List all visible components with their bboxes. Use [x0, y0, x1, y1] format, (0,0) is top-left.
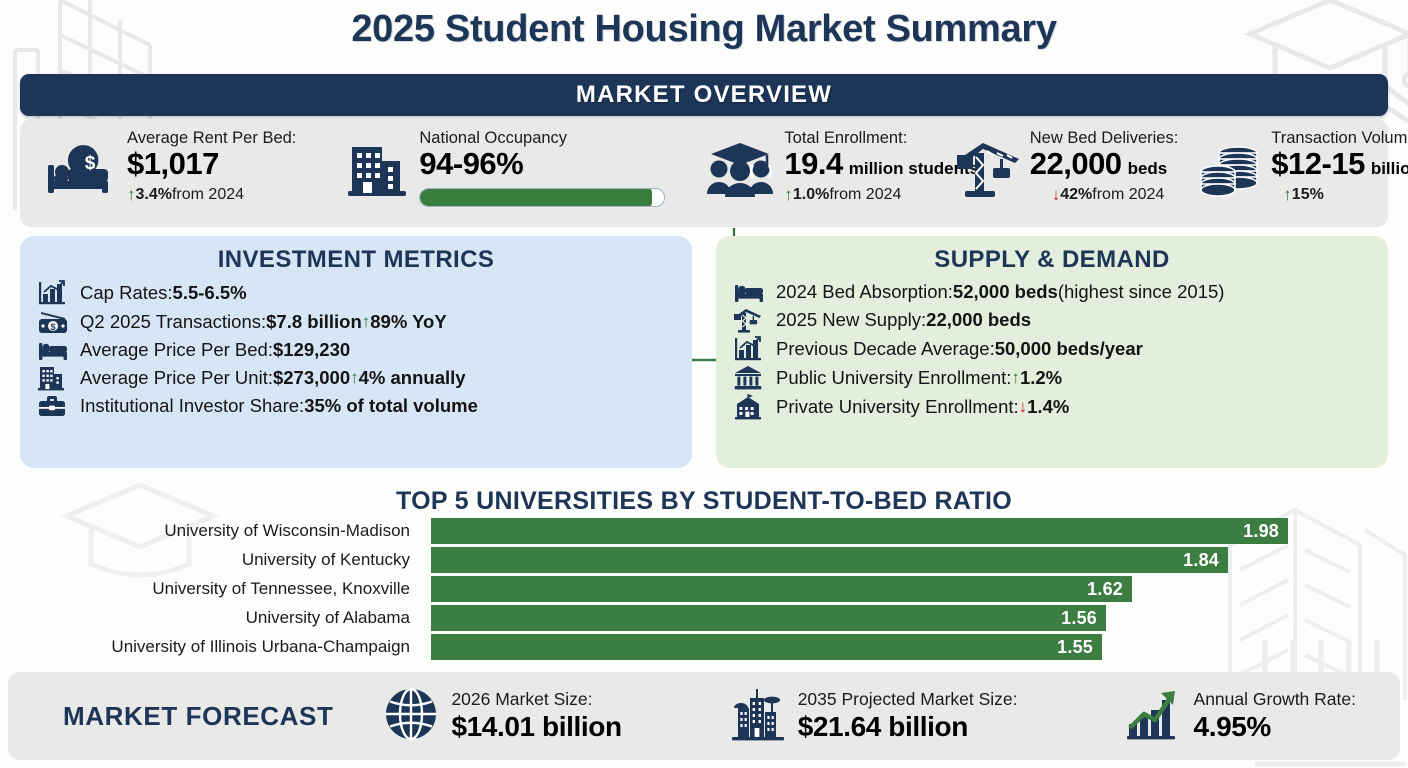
arrow-up-icon: ↑: [127, 185, 136, 205]
stat-value: 94-96%: [419, 147, 523, 182]
apartment-icon: [38, 365, 72, 391]
item-text-pre: Public University Enrollment:: [776, 366, 1011, 389]
stat-unit: billion: [1371, 160, 1408, 177]
forecast-label: 2035 Projected Market Size:: [798, 689, 1018, 710]
forecast-value: $14.01 billion: [451, 710, 621, 744]
cash-money-icon: $: [38, 309, 72, 335]
item-text-bold2: 89% YoY: [370, 310, 446, 333]
bar-chart-up-icon: [38, 280, 72, 306]
item-text-bold: 52,000 beds: [953, 280, 1058, 303]
list-item: 2025 New Supply: 22,000 beds: [734, 307, 1370, 333]
city-skyline-icon: [730, 686, 786, 747]
bar-value-label: 1.56: [1061, 608, 1097, 629]
forecast-item-2035-projected-market-size: 2035 Projected Market Size: $21.64 billi…: [730, 686, 1018, 747]
stat-label: Transaction Volume:: [1271, 129, 1408, 147]
bar-category-label: University of Tennessee, Knoxville: [0, 576, 420, 602]
graduates-group-icon: [707, 141, 775, 204]
list-item: Previous Decade Average: 50,000 beds/yea…: [734, 336, 1370, 362]
list-item: 2024 Bed Absorption: 52,000 beds (highes…: [734, 280, 1370, 304]
market-overview-stats: $ Average Rent Per Bed: $1,017 ↑3.4% fro…: [20, 119, 1388, 227]
infographic-root: 2025 Student Housing Market Summary MARK…: [0, 0, 1408, 768]
stat-transaction-volume: Transaction Volume: $12-15 billion ↑15%: [1196, 119, 1408, 227]
stat-delta: ↓42% from 2024: [1052, 185, 1179, 205]
item-text-pre: Private University Enrollment:: [776, 395, 1019, 418]
school-building-icon: [734, 394, 768, 420]
arrow-up-icon: ↑: [1011, 367, 1020, 388]
supply-demand-list: 2024 Bed Absorption: 52,000 beds (highes…: [734, 280, 1370, 420]
item-text-bold: 22,000 beds: [926, 308, 1031, 331]
bar-wrapper: 1.98: [431, 518, 1288, 544]
item-text-bold: 50,000 beds/year: [995, 337, 1143, 360]
arrow-down-icon: ↓: [1052, 185, 1061, 205]
stat-delta-suffix: from 2024: [1092, 186, 1164, 204]
item-text-bold2: 1.4%: [1027, 395, 1069, 418]
forecast-label: 2026 Market Size:: [451, 689, 621, 710]
bed-icon: [734, 280, 768, 304]
bar-chart-up-icon: [734, 336, 768, 362]
stat-label: Average Rent Per Bed:: [127, 129, 296, 147]
stat-label: National Occupancy: [419, 129, 665, 147]
forecast-item-2026-market-size: 2026 Market Size: $14.01 billion: [383, 686, 621, 747]
investment-metrics-list: Cap Rates: 5.5-6.5% $ Q2 2025 Transactio…: [38, 280, 674, 418]
supply-demand-title: SUPPLY & DEMAND: [734, 246, 1370, 274]
item-text-pre: Q2 2025 Transactions:: [80, 310, 266, 333]
bar-value-label: 1.84: [1183, 550, 1219, 571]
list-item: $ Q2 2025 Transactions: $7.8 billion ↑89…: [38, 309, 674, 335]
bar: 1.84: [431, 547, 1228, 573]
stat-delta-suffix: from 2024: [172, 186, 244, 204]
forecast-item-annual-growth-rate: Annual Growth Rate: 4.95%: [1124, 686, 1356, 747]
bar-row: University of Alabama1.56: [0, 605, 1408, 631]
bar-category-label: University of Kentucky: [0, 547, 420, 573]
list-item: Public University Enrollment: ↑1.2%: [734, 365, 1370, 391]
list-item: Average Price Per Bed: $129,230: [38, 338, 674, 362]
market-overview-header-label: MARKET OVERVIEW: [576, 81, 832, 109]
coin-stacks-icon: [1200, 141, 1262, 204]
bank-columns-icon: [734, 365, 768, 391]
stat-delta-value: 1.0%: [793, 186, 829, 204]
market-forecast-title: MARKET FORECAST: [63, 701, 333, 732]
forecast-value: $21.64 billion: [798, 710, 1018, 744]
stat-delta-value: 15%: [1292, 186, 1324, 204]
arrow-down-icon: ↓: [1019, 396, 1028, 417]
list-item: Private University Enrollment: ↓1.4%: [734, 394, 1370, 420]
svg-text:$: $: [50, 322, 55, 332]
construction-crane-icon: [734, 307, 768, 333]
list-item: Average Price Per Unit: $273,000 ↑4% ann…: [38, 365, 674, 391]
bar-value-label: 1.98: [1243, 521, 1279, 542]
item-text-bold: $273,000: [273, 366, 350, 389]
market-forecast-footer: MARKET FORECAST 2026 Market Size: $14.01: [8, 672, 1400, 760]
bar-row: University of Tennessee, Knoxville1.62: [0, 576, 1408, 602]
item-text-pre: Cap Rates:: [80, 281, 173, 304]
arrow-up-icon: ↑: [350, 367, 359, 388]
item-text-pre: Institutional Investor Share:: [80, 394, 304, 417]
item-text-pre: 2024 Bed Absorption:: [776, 280, 953, 303]
stat-value: 22,000: [1030, 147, 1122, 182]
item-text-bold: $129,230: [273, 338, 350, 361]
bar-category-label: University of Alabama: [0, 605, 420, 631]
bar-wrapper: 1.84: [431, 547, 1228, 573]
list-item: Institutional Investor Share: 35% of tot…: [38, 394, 674, 418]
item-text-pre: Average Price Per Bed:: [80, 338, 273, 361]
stat-unit: million students: [849, 161, 929, 177]
bar: 1.55: [431, 634, 1102, 660]
stat-new-bed-deliveries: New Bed Deliveries: 22,000 beds ↓42% fro…: [953, 119, 1183, 227]
occupancy-progress-bar: [419, 188, 665, 207]
item-text-bold2: 4% annually: [359, 366, 466, 389]
stat-delta: ↑3.4% from 2024: [127, 185, 296, 205]
bar: 1.62: [431, 576, 1132, 602]
arrow-up-icon: ↑: [1283, 185, 1292, 205]
occupancy-progress-fill: [420, 189, 652, 206]
stat-unit: beds: [1128, 160, 1168, 177]
bar-wrapper: 1.62: [431, 576, 1132, 602]
bar-category-label: University of Wisconsin-Madison: [0, 518, 420, 544]
stat-national-occupancy: National Occupancy 94-96%: [344, 119, 669, 227]
forecast-label: Annual Growth Rate:: [1194, 689, 1356, 710]
bar-wrapper: 1.56: [431, 605, 1106, 631]
forecast-value: 4.95%: [1194, 710, 1356, 744]
bar-value-label: 1.55: [1057, 637, 1093, 658]
stat-delta: ↑1.0% from 2024: [784, 185, 928, 205]
item-text-bold: $7.8 billion: [266, 310, 362, 333]
bar: 1.98: [431, 518, 1288, 544]
briefcase-icon: [38, 394, 72, 418]
bar-row: University of Kentucky1.84: [0, 547, 1408, 573]
construction-crane-icon: [957, 141, 1021, 204]
item-text-post: (highest since 2015): [1058, 280, 1225, 303]
item-text-bold: 35% of total volume: [304, 394, 478, 417]
office-building-icon: [348, 141, 410, 204]
bed-with-dollar-icon: $: [46, 141, 118, 204]
stat-delta-value: 3.4%: [136, 186, 172, 204]
bar-category-label: University of Illinois Urbana-Champaign: [0, 634, 420, 660]
item-text-pre: Previous Decade Average:: [776, 337, 995, 360]
item-text-pre: 2025 New Supply:: [776, 308, 926, 331]
supply-demand-panel: SUPPLY & DEMAND 2024 Bed Absorption: 52,…: [716, 236, 1388, 468]
item-text-bold2: 1.2%: [1020, 366, 1062, 389]
stat-label: New Bed Deliveries:: [1030, 129, 1179, 147]
stat-delta: ↑15%: [1283, 185, 1408, 205]
bar-value-label: 1.62: [1087, 579, 1123, 600]
stat-value: $1,017: [127, 147, 219, 182]
stat-delta-value: 42%: [1060, 186, 1092, 204]
top-universities-bar-chart: University of Wisconsin-Madison1.98Unive…: [0, 518, 1408, 660]
stat-label: Total Enrollment:: [784, 129, 928, 147]
growth-chart-icon: [1124, 686, 1182, 747]
bar-row: University of Wisconsin-Madison1.98: [0, 518, 1408, 544]
chart-title: TOP 5 UNIVERSITIES BY STUDENT-TO-BED RAT…: [0, 487, 1408, 516]
investment-metrics-title: INVESTMENT METRICS: [38, 246, 674, 274]
stat-average-rent-per-bed: $ Average Rent Per Bed: $1,017 ↑3.4% fro…: [42, 119, 300, 227]
list-item: Cap Rates: 5.5-6.5%: [38, 280, 674, 306]
stat-value: 19.4: [784, 147, 842, 182]
bar: 1.56: [431, 605, 1106, 631]
bar-row: University of Illinois Urbana-Champaign1…: [0, 634, 1408, 660]
item-text-bold: 5.5-6.5%: [173, 281, 247, 304]
svg-text:$: $: [85, 153, 96, 174]
arrow-up-icon: ↑: [784, 185, 793, 205]
stat-delta-suffix: from 2024: [829, 186, 901, 204]
bed-icon: [38, 338, 72, 362]
globe-icon: [383, 686, 439, 747]
bar-wrapper: 1.55: [431, 634, 1102, 660]
market-overview-header: MARKET OVERVIEW: [20, 74, 1388, 116]
page-title: 2025 Student Housing Market Summary: [0, 8, 1408, 51]
stat-total-enrollment: Total Enrollment: 19.4 million students …: [703, 119, 932, 227]
arrow-up-icon: ↑: [362, 311, 371, 332]
investment-metrics-panel: INVESTMENT METRICS Cap Rates: 5.5-6.5% $…: [20, 236, 692, 468]
stat-value: $12-15: [1271, 147, 1365, 182]
item-text-pre: Average Price Per Unit:: [80, 366, 273, 389]
